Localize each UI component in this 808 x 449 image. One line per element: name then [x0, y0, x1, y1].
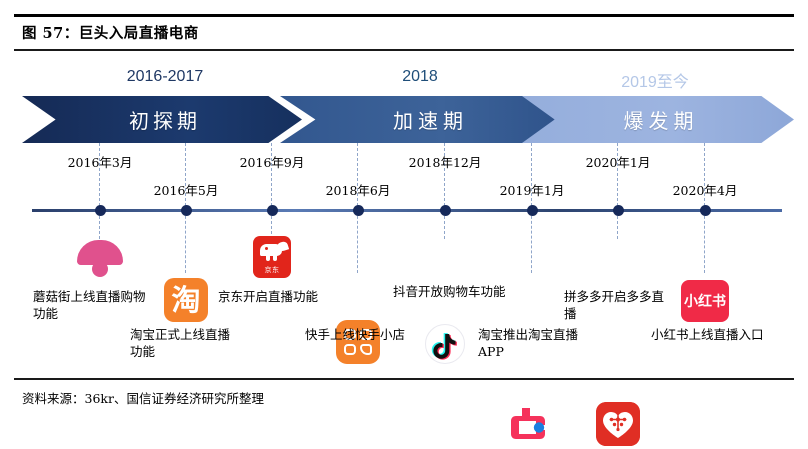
tick-line-7: [704, 143, 705, 211]
timeline-dot-4[interactable]: [440, 205, 451, 216]
phase-year-1: 2018: [330, 68, 510, 86]
phase-label-2: 爆发期: [618, 105, 699, 134]
date-label-7: 2020年4月: [640, 180, 770, 199]
figure-canvas: 图 57：巨头入局直播电商 2016-2017 2018 2019至今 初探期 …: [0, 0, 808, 414]
tick-line-down-3: [357, 211, 358, 273]
title-rule: [14, 49, 794, 51]
douyin-note-icon: [426, 325, 464, 363]
event-caption-2: 京东开启直播功能: [218, 288, 330, 305]
timeline-dot-1[interactable]: [181, 205, 192, 216]
timeline-axis: [32, 209, 782, 212]
xiaohongshu-logo: 小红书: [681, 280, 729, 322]
timeline-dot-2[interactable]: [267, 205, 278, 216]
pinduoduo-logo: [596, 402, 640, 446]
timeline-dot-5[interactable]: [527, 205, 538, 216]
event-caption-7: 小红书上线直播入口: [651, 326, 766, 343]
date-label-2: 2016年9月: [207, 152, 337, 171]
timeline-dot-6[interactable]: [613, 205, 624, 216]
mogujie-logo: [77, 240, 123, 280]
phase-arrow-1: 加速期: [280, 96, 575, 143]
jd-logo: 京东: [253, 236, 291, 278]
phase-label-1: 加速期: [387, 105, 468, 134]
event-caption-4: 抖音开放购物车功能: [393, 283, 508, 300]
event-caption-6: 拼多多开启多多直播: [564, 288, 676, 322]
event-caption-5: 淘宝推出淘宝直播APP: [478, 326, 590, 360]
phase-year-2: 2019至今: [560, 68, 750, 92]
date-label-4: 2018年12月: [378, 152, 512, 171]
event-caption-3: 快手上线快手小店: [305, 326, 417, 343]
taobao-live-eye-icon: [510, 404, 556, 444]
date-label-3: 2018年6月: [293, 180, 423, 199]
tick-line-1: [185, 143, 186, 211]
douyin-logo: [425, 324, 465, 364]
top-rule: [14, 14, 794, 17]
timeline-dot-7[interactable]: [700, 205, 711, 216]
tick-line-3: [357, 143, 358, 211]
xiaohongshu-glyph: 小红书: [684, 291, 726, 311]
date-label-1: 2016年5月: [121, 180, 251, 199]
date-label-5: 2019年1月: [467, 180, 597, 199]
bottom-rule: [14, 378, 794, 380]
jd-glyph: 京东: [253, 265, 291, 275]
phase-year-0: 2016-2017: [70, 68, 260, 86]
tick-line-5: [531, 143, 532, 211]
timeline-dot-3[interactable]: [353, 205, 364, 216]
source-note: 资料来源：36kr、国信证券经济研究所整理: [22, 388, 264, 407]
tick-line-down-5: [531, 211, 532, 273]
timeline-dot-0[interactable]: [95, 205, 106, 216]
phase-label-0: 初探期: [123, 105, 201, 134]
date-label-0: 2016年3月: [35, 152, 165, 171]
tick-line-down-7: [704, 211, 705, 273]
phase-arrow-2: 爆发期: [522, 96, 794, 143]
event-caption-0: 蘑菇街上线直播购物功能: [33, 288, 151, 322]
phase-arrow-0: 初探期: [22, 96, 302, 143]
taobao-glyph: 淘: [171, 286, 200, 315]
tick-line-down-1: [185, 211, 186, 273]
date-label-6: 2020年1月: [553, 152, 683, 171]
taobao-logo: 淘: [164, 278, 208, 322]
event-caption-1: 淘宝正式上线直播功能: [130, 326, 242, 360]
page-title: 图 57：巨头入局直播电商: [22, 22, 199, 43]
pinduoduo-heart-icon: [596, 402, 640, 446]
taobao-live-logo: [510, 404, 556, 444]
